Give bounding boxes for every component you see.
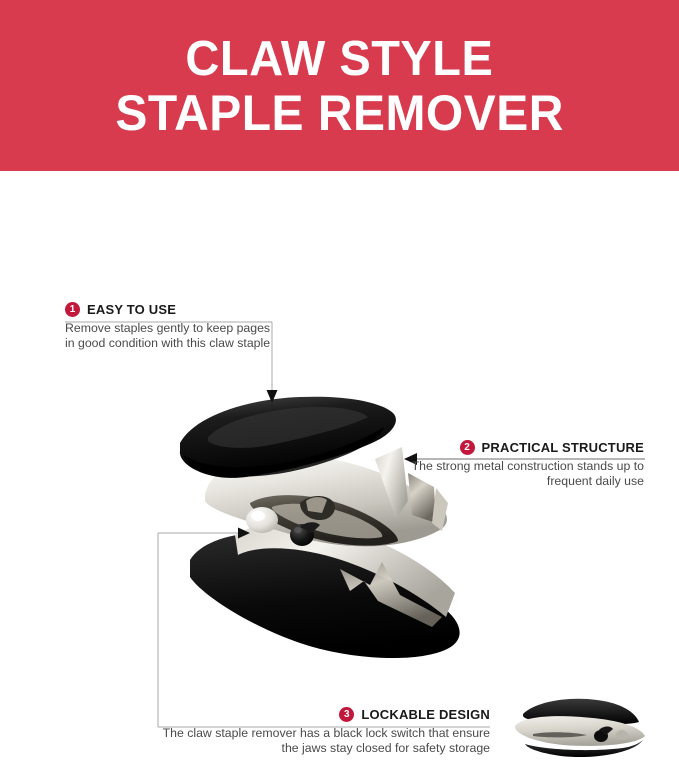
callout-2-body: The strong metal construction stands up … xyxy=(409,459,644,488)
callout-3-title: LOCKABLE DESIGN xyxy=(361,707,490,722)
page-title: CLAW STYLE STAPLE REMOVER xyxy=(0,0,679,171)
callout-1-title: EASY TO USE xyxy=(87,302,176,317)
callout-practical-structure: 2 PRACTICAL STRUCTURE The strong metal c… xyxy=(409,440,644,488)
callout-easy-to-use: 1 EASY TO USE Remove staples gently to k… xyxy=(65,302,271,350)
header-banner: CLAW STYLE STAPLE REMOVER xyxy=(0,0,679,171)
callout-1-badge: 1 xyxy=(65,302,80,317)
secondary-product-image xyxy=(505,690,665,765)
callout-3-badge: 3 xyxy=(339,707,354,722)
callout-3-header: 3 LOCKABLE DESIGN xyxy=(158,707,490,722)
main-product-image xyxy=(150,355,510,675)
callout-3-body: The claw staple remover has a black lock… xyxy=(158,726,490,755)
callout-1-header: 1 EASY TO USE xyxy=(65,302,271,317)
callout-2-header: 2 PRACTICAL STRUCTURE xyxy=(409,440,644,455)
callout-2-title: PRACTICAL STRUCTURE xyxy=(482,440,644,455)
callout-2-badge: 2 xyxy=(460,440,475,455)
title-line-1: CLAW STYLE xyxy=(186,33,494,85)
callout-1-body: Remove staples gently to keep pages in g… xyxy=(65,321,271,350)
title-line-2: STAPLE REMOVER xyxy=(115,87,564,139)
callout-lockable-design: 3 LOCKABLE DESIGN The claw staple remove… xyxy=(158,707,490,755)
